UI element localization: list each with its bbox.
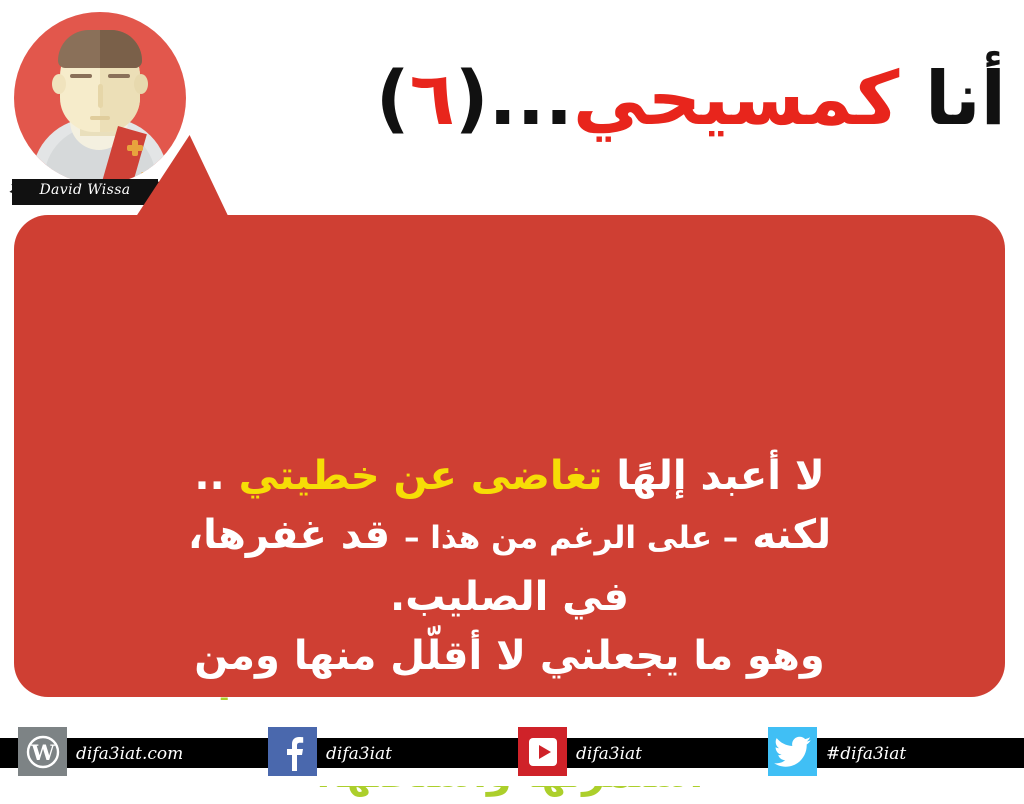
quote-line-1c: .. <box>194 453 238 499</box>
avatar-eyebrow-right <box>108 74 130 78</box>
footer-label-wordpress[interactable]: difa3iat.com <box>76 743 183 765</box>
title-part-ana: أنا <box>899 56 1006 142</box>
quote-line-1b-highlight: تغاضى عن خطيتي <box>239 453 603 499</box>
wordpress-icon[interactable]: W <box>18 727 67 776</box>
quote-line-1a: لا أعبد إلهًا <box>602 453 824 499</box>
speech-bubble: لا أعبد إلهًا تغاضى عن خطيتي ..لكنه – عل… <box>14 215 1005 697</box>
avatar-mouth <box>90 116 110 120</box>
poster-canvas: David Wissa أنا كمسيحي...(٦) لا أعبد إله… <box>0 0 1024 786</box>
footer-label-facebook[interactable]: difa3iat <box>326 743 392 765</box>
quote-line-4: وهو ما يجعلني لا أقلّل منها ومن <box>194 633 824 679</box>
youtube-icon[interactable] <box>518 727 567 776</box>
avatar-hair-shade <box>100 30 142 68</box>
quote-line-2b: قد غفرها، <box>188 512 404 558</box>
twitter-icon[interactable] <box>768 727 817 776</box>
author-name: David Wissa <box>12 182 158 198</box>
avatar-nose <box>98 84 103 108</box>
avatar-ear-right <box>134 74 148 94</box>
svg-text:W: W <box>30 740 55 765</box>
avatar-ear-left <box>52 74 66 94</box>
title-part-close: ) <box>376 56 410 142</box>
page-title: أنا كمسيحي...(٦) <box>200 44 1006 170</box>
quote-line-2-parenthetical: – على الرغم من هذا – <box>404 520 738 556</box>
title-part-kamaseehy: كمسيحي <box>573 56 899 142</box>
cross-icon <box>127 140 143 156</box>
avatar-circle <box>14 12 186 184</box>
quote-line-3: في الصليب. <box>390 574 629 620</box>
avatar <box>14 12 186 184</box>
author-nameplate: David Wissa <box>12 179 158 205</box>
facebook-icon[interactable] <box>268 727 317 776</box>
footer-label-twitter[interactable]: #difa3iat <box>826 743 906 765</box>
footer-label-youtube[interactable]: difa3iat <box>576 743 642 765</box>
footer: W difa3iat.com difa3iat difa3iat #difa3i… <box>0 700 1024 786</box>
avatar-eyebrow-left <box>70 74 92 78</box>
title-part-number: ٦ <box>410 56 455 142</box>
quote-line-2a: لكنه <box>738 512 831 558</box>
title-part-dots-open: ...( <box>455 56 573 142</box>
